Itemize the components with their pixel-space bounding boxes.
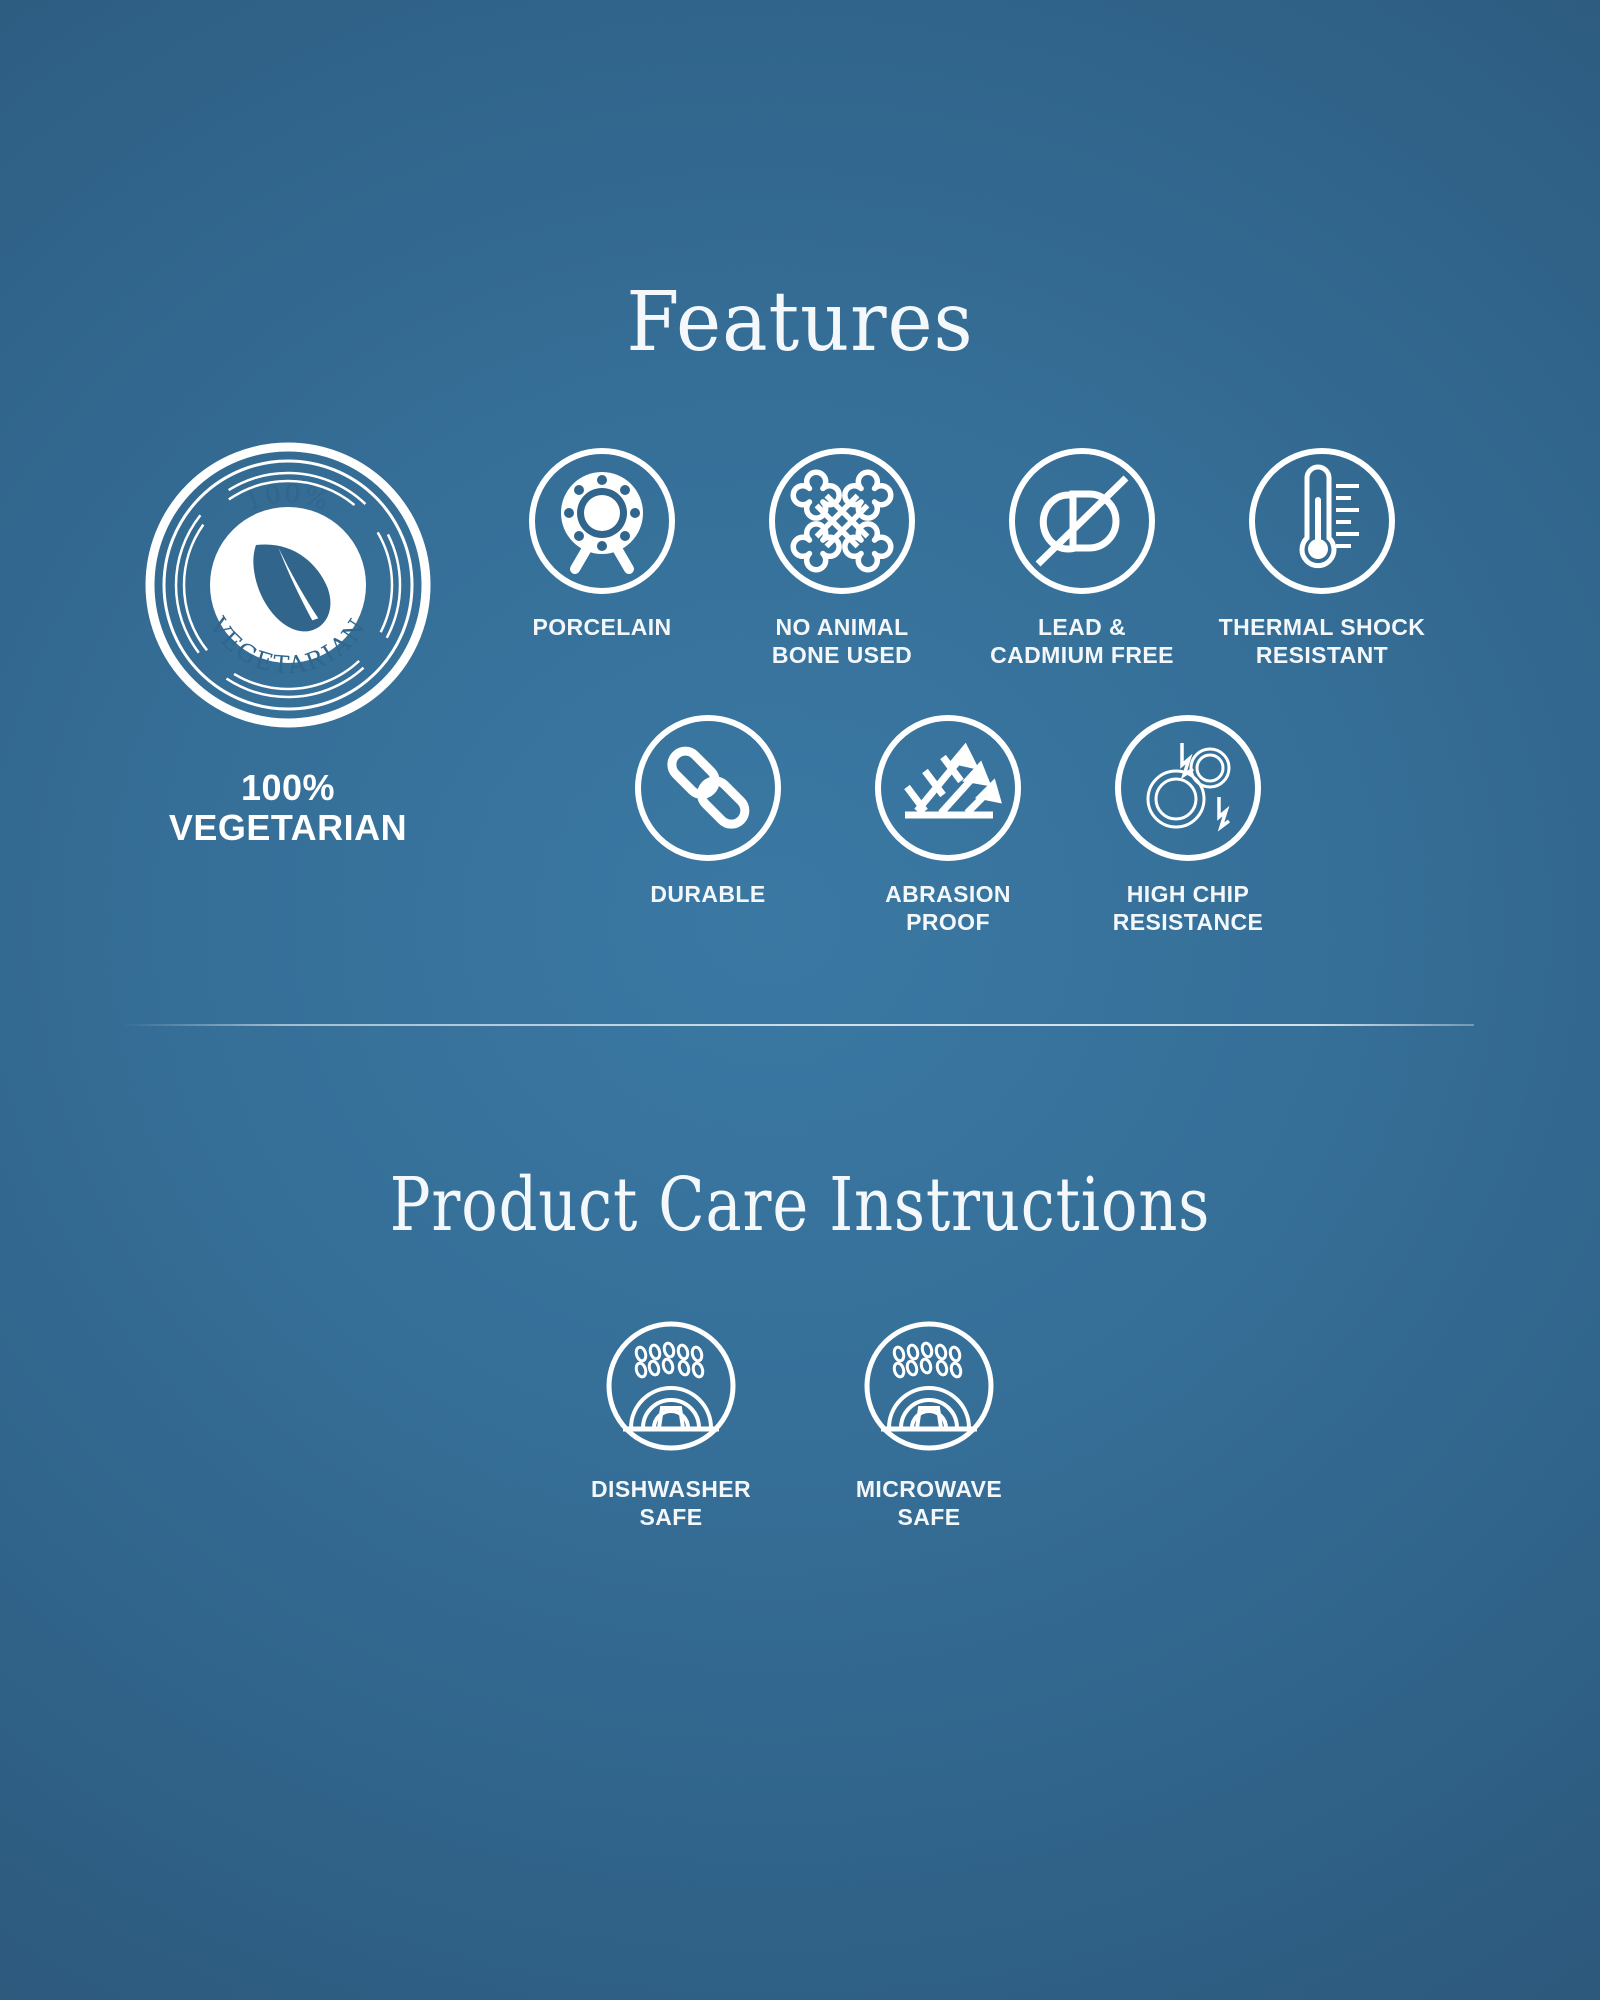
- feature-label: THERMAL SHOCK RESISTANT: [1219, 614, 1426, 669]
- feature-row-2: DURABLE: [458, 709, 1600, 936]
- vegetarian-badge-block: 100% VEGETARIAN 100% VEGETARIAN: [118, 432, 458, 849]
- feature-label: LEAD & CADMIUM FREE: [990, 614, 1174, 669]
- features-content: 100% VEGETARIAN 100% VEGETARIAN: [0, 432, 1600, 936]
- feature-label: DURABLE: [650, 881, 765, 909]
- feature-row-1: PORCELAIN: [458, 442, 1600, 669]
- features-section-title: Features: [56, 282, 1544, 364]
- section-divider: [126, 1024, 1474, 1026]
- feature-no-animal-bone[interactable]: NO ANIMAL BONE USED: [722, 442, 962, 669]
- vegetarian-seal: 100% VEGETARIAN: [143, 440, 433, 730]
- chain-link-icon: [629, 709, 787, 867]
- feature-abrasion-proof[interactable]: ABRASION PROOF: [828, 709, 1068, 936]
- feature-durable[interactable]: DURABLE: [588, 709, 828, 936]
- feature-label: ABRASION PROOF: [885, 881, 1011, 936]
- deflected-arrows-icon: [869, 709, 1027, 867]
- no-lead-cadmium-icon: [1003, 442, 1161, 600]
- dishwasher-rack-icon: [597, 1312, 745, 1460]
- chipped-plates-icon: [1109, 709, 1267, 867]
- feature-thermal-shock[interactable]: THERMAL SHOCK RESISTANT: [1202, 442, 1442, 669]
- feature-porcelain[interactable]: PORCELAIN: [482, 442, 722, 669]
- care-section-title: Product Care Instructions: [144, 1168, 1456, 1242]
- feature-label: NO ANIMAL BONE USED: [772, 614, 912, 669]
- care-label: DISHWASHER SAFE: [591, 1476, 751, 1531]
- care-icon-row: DISHWASHER SAFE: [0, 1312, 1600, 1531]
- care-section: Product Care Instructions: [0, 1168, 1600, 1531]
- feature-label: PORCELAIN: [532, 614, 671, 642]
- care-label: MICROWAVE SAFE: [856, 1476, 1002, 1531]
- thermometer-icon: [1243, 442, 1401, 600]
- care-microwave-safe[interactable]: MICROWAVE SAFE: [829, 1312, 1029, 1531]
- vegetarian-caption: 100% VEGETARIAN: [118, 768, 458, 849]
- feature-lead-cadmium-free[interactable]: LEAD & CADMIUM FREE: [962, 442, 1202, 669]
- feature-label: HIGH CHIP RESISTANCE: [1113, 881, 1264, 936]
- care-dishwasher-safe[interactable]: DISHWASHER SAFE: [571, 1312, 771, 1531]
- feature-high-chip-resistance[interactable]: HIGH CHIP RESISTANCE: [1068, 709, 1308, 936]
- crossed-bones-icon: [763, 442, 921, 600]
- feature-icon-grid: PORCELAIN: [458, 432, 1600, 936]
- microwave-dish-icon: [855, 1312, 1003, 1460]
- porcelain-plate-icon: [523, 442, 681, 600]
